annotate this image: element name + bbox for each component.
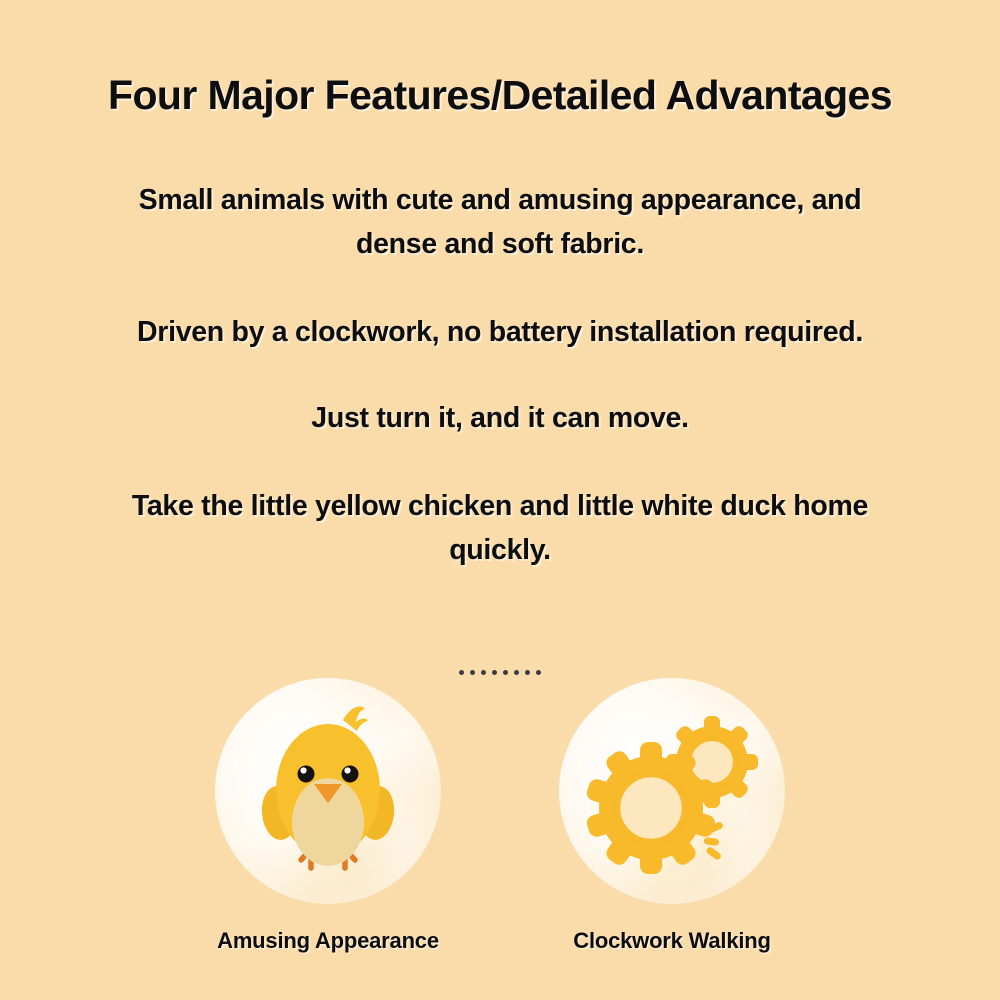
body-copy: Small animals with cute and amusing appe…: [100, 178, 900, 572]
separator-dot: [481, 670, 486, 675]
separator-dot: [492, 670, 497, 675]
separator-dot: [459, 670, 464, 675]
page-title: Four Major Features/Detailed Advantages: [0, 72, 1000, 119]
separator-dot: [536, 670, 541, 675]
feature-caption: Clockwork Walking: [559, 928, 785, 954]
feature-caption: Amusing Appearance: [215, 928, 441, 954]
gears-in-bubble-icon: [559, 678, 785, 904]
body-paragraph-3: Just turn it, and it can move.: [100, 396, 900, 440]
separator-dot: [503, 670, 508, 675]
body-paragraph-2: Driven by a clockwork, no battery instal…: [100, 310, 900, 354]
separator-dot: [514, 670, 519, 675]
body-paragraph-4: Take the little yellow chicken and littl…: [100, 484, 900, 572]
body-paragraph-1: Small animals with cute and amusing appe…: [100, 178, 900, 266]
feature-item-amusing-appearance: Amusing Appearance: [215, 678, 441, 954]
separator-dot: [525, 670, 530, 675]
dotted-separator: [0, 670, 1000, 675]
promo-slide: Four Major Features/Detailed Advantages …: [0, 0, 1000, 1000]
chick-in-bubble-icon: [215, 678, 441, 904]
separator-dot: [470, 670, 475, 675]
feature-item-clockwork-walking: Clockwork Walking: [559, 678, 785, 954]
feature-row: Amusing Appearance: [0, 678, 1000, 954]
